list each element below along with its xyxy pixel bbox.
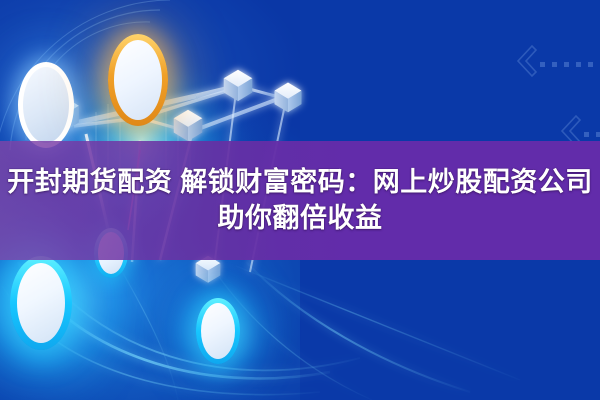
- headline-block: 开封期货配资 解锁财富密码：网上炒股配资公司 助你翻倍收益: [0, 141, 600, 260]
- center-orange-node: [108, 34, 168, 126]
- lower-left-node: [10, 256, 72, 350]
- headline-line-2: 助你翻倍收益: [218, 203, 383, 235]
- lower-right-node-core: [201, 303, 235, 359]
- diamond-right: [275, 83, 302, 113]
- diamond-mid: [174, 110, 203, 141]
- chevron-dots-1: [540, 62, 600, 67]
- left-node: [18, 62, 74, 148]
- center-node-core: [114, 40, 162, 120]
- lower-right-node: [196, 298, 240, 364]
- left-node-core: [23, 67, 69, 143]
- headline-line-1: 开封期货配资 解锁财富密码：网上炒股配资公司: [7, 167, 593, 199]
- diamond-upper: [224, 70, 253, 101]
- chevron-arrow-1: [514, 44, 540, 78]
- promo-banner: 开封期货配资 解锁财富密码：网上炒股配资公司 助你翻倍收益: [0, 0, 600, 400]
- lower-left-node-core: [17, 263, 65, 343]
- chevron-dots-2: [584, 132, 600, 137]
